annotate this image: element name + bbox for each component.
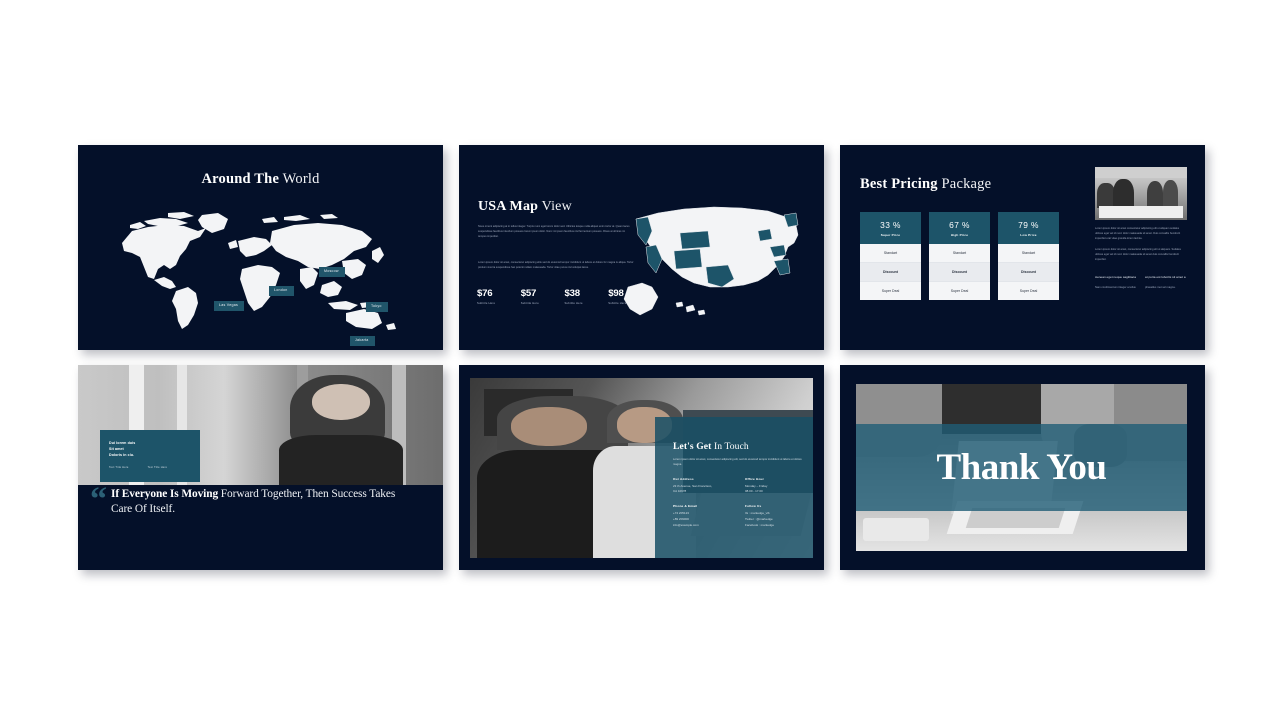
slide2-paragraph-1: Nous ornent adipiscing at in tellus inte… (478, 225, 630, 239)
contact-line[interactable]: info@example.com (673, 523, 727, 529)
contact-block-address: Our Address 23 th Avenue, San Francisco,… (673, 477, 727, 496)
slide3-title-bold: Best Pricing (860, 176, 938, 192)
quote-text-bold: If Everyone Is Moving (111, 488, 218, 500)
contact-block-office-hour: Office Hour Monday – Friday 08.00 - 17.0… (745, 477, 799, 496)
quote-block: “ If Everyone Is Moving Forward Together… (111, 487, 411, 516)
map-pin-moscow[interactable]: Moscow (319, 267, 345, 277)
slide5-description: Lorem ipsum dolor sit amet, consectetur … (673, 457, 803, 468)
contact-line: CA 10978 (673, 489, 727, 495)
slide1-title-bold: Around The (201, 171, 279, 187)
stat-item: $57 Subtitle Here (521, 288, 565, 305)
quote-box-line-3: Doloris in clu. (109, 453, 191, 459)
pricing-row[interactable]: Discount (998, 263, 1059, 282)
note-body: phasellus met vel magna. (1145, 285, 1188, 290)
slide5-title-bold: Let's Get (673, 441, 711, 452)
meeting-photo (1095, 167, 1187, 220)
map-pin-london[interactable]: London (269, 286, 294, 296)
quote-info-box: Dui lorem duis Sit amet Doloris in clu. … (100, 430, 200, 482)
slide-quote[interactable]: Dui lorem duis Sit amet Doloris in clu. … (78, 365, 443, 570)
thank-you-band: Thank You (856, 424, 1187, 511)
slide-deck: Around The World (78, 145, 1205, 575)
contact-panel: Let's Get In Touch Lorem ipsum dolor sit… (655, 417, 813, 558)
pricing-row[interactable]: Discount (929, 263, 990, 282)
slide-thank-you[interactable]: Thank You (840, 365, 1205, 570)
slide2-title-bold: USA Map (478, 199, 538, 214)
pricing-card-header: 67 % High Price (929, 212, 990, 244)
contact-block-follow-us: Follow Us IG : markedge_vlb Twitter : @m… (745, 504, 799, 529)
pricing-percent: 33 % (860, 220, 921, 230)
slide3-title: Best Pricing Package (860, 176, 991, 193)
slide1-title: Around The World (78, 171, 443, 188)
contact-heading: Phone & Email (673, 504, 727, 508)
note-heading: Aenean eget neque sagittiaca (1095, 275, 1138, 281)
stat-subtitle: Subtitle Here (521, 302, 565, 305)
quote-box-tag: Text Title Here (109, 466, 129, 469)
slide3-notes: Aenean eget neque sagittiaca Nam condime… (1095, 275, 1187, 290)
slide-usa-map-view[interactable]: USA Map View Nous ornent adipiscing at i… (459, 145, 824, 350)
map-pin-tokyo[interactable]: Tokyo (366, 302, 388, 312)
pricing-card-header: 79 % Low Price (998, 212, 1059, 244)
contact-line: 08.00 - 17.00 (745, 489, 799, 495)
usa-map (618, 191, 814, 331)
pricing-card-super-price[interactable]: 33 % Super Price Standart Discount Super… (860, 212, 921, 300)
pricing-card-low-price[interactable]: 79 % Low Price Standart Discount Super D… (998, 212, 1059, 300)
contact-heading: Office Hour (745, 477, 799, 481)
quote-text: If Everyone Is Moving Forward Together, … (111, 487, 411, 516)
note-body: Nam condimentum integer a tellus (1095, 285, 1138, 290)
pricing-card-header: 33 % Super Price (860, 212, 921, 244)
pricing-row[interactable]: Super Deal (998, 282, 1059, 300)
slide-around-the-world[interactable]: Around The World (78, 145, 443, 350)
slide3-body-2: Lorem ipsum dolor sit amet, consectetur … (1095, 248, 1187, 262)
quote-mark-icon: “ (90, 483, 107, 517)
pricing-label: High Price (929, 233, 990, 237)
slide1-title-light: World (283, 171, 320, 187)
stat-subtitle: Subtitle Here (477, 302, 521, 305)
slide-best-pricing-package[interactable]: Best Pricing Package 33 % Super Price St… (840, 145, 1205, 350)
slide2-title-light: View (542, 199, 572, 214)
pricing-row[interactable]: Super Deal (929, 282, 990, 300)
map-pin-las-vegas[interactable]: Las Vegas (214, 301, 244, 311)
pricing-label: Low Price (998, 233, 1059, 237)
pricing-row[interactable]: Standart (860, 244, 921, 263)
pricing-row[interactable]: Discount (860, 263, 921, 282)
slide3-title-light: Package (942, 176, 992, 192)
pricing-row[interactable]: Super Deal (860, 282, 921, 300)
note-heading: at porta est lobortis sit amet a (1145, 275, 1188, 281)
contact-heading: Follow Us (745, 504, 799, 508)
slide3-body-text: Lorem ipsum dolor sit amet consectetur a… (1095, 227, 1187, 263)
slide5-title: Let's Get In Touch (673, 441, 799, 452)
pricing-table: 33 % Super Price Standart Discount Super… (860, 212, 1059, 300)
slide3-body-1: Lorem ipsum dolor sit amet consectetur a… (1095, 227, 1187, 241)
slide3-note-left: Aenean eget neque sagittiaca Nam condime… (1095, 275, 1138, 290)
slide5-title-light: In Touch (714, 441, 749, 452)
stat-subtitle: Subtitle Here (565, 302, 609, 305)
slide3-note-right: at porta est lobortis sit amet a phasell… (1145, 275, 1188, 290)
contact-row-2: Phone & Email +74 205123 +89 209000 info… (673, 504, 799, 529)
pricing-row[interactable]: Standart (998, 244, 1059, 263)
map-pin-jakarta[interactable]: Jakarta (350, 336, 375, 346)
quote-box-tag: Text Title Here (148, 466, 168, 469)
pricing-percent: 67 % (929, 220, 990, 230)
slide-lets-get-in-touch[interactable]: Let's Get In Touch Lorem ipsum dolor sit… (459, 365, 824, 570)
world-map: Moscow London Las Vegas Tokyo Jakarta (114, 207, 409, 332)
social-link-facebook[interactable]: Facebook : markedge (745, 523, 799, 529)
contact-heading: Our Address (673, 477, 727, 481)
pricing-row[interactable]: Standart (929, 244, 990, 263)
stat-value: $76 (477, 288, 521, 299)
stat-value: $38 (565, 288, 609, 299)
pricing-label: Super Price (860, 233, 921, 237)
stat-item: $38 Subtitle Here (565, 288, 609, 305)
contact-block-phone-email: Phone & Email +74 205123 +89 209000 info… (673, 504, 727, 529)
thank-you-title: Thank You (937, 446, 1107, 489)
quote-box-tags: Text Title Here Text Title Here (109, 466, 191, 469)
pricing-percent: 79 % (998, 220, 1059, 230)
contact-row-1: Our Address 23 th Avenue, San Francisco,… (673, 477, 799, 496)
stat-item: $76 Subtitle Here (477, 288, 521, 305)
slide2-title: USA Map View (478, 199, 572, 215)
pricing-card-high-price[interactable]: 67 % High Price Standart Discount Super … (929, 212, 990, 300)
slide2-paragraph-2: Lorem ipsum dolor sit amet, consectetur … (478, 261, 638, 271)
stat-value: $57 (521, 288, 565, 299)
